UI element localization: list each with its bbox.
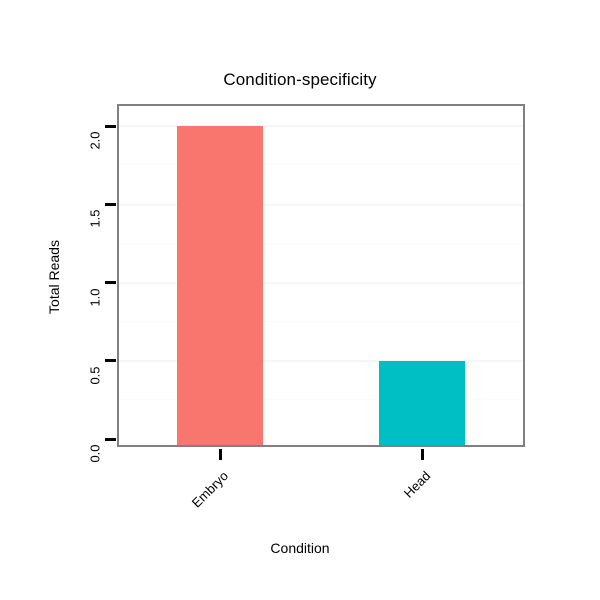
y-tick-mark — [105, 203, 116, 206]
y-tick-mark — [105, 125, 116, 128]
y-tick-label: 0.5 — [88, 360, 103, 390]
x-tick-mark — [421, 449, 424, 460]
chart-title: Condition-specificity — [0, 70, 600, 90]
x-tick-label: Head — [401, 468, 434, 501]
y-tick-mark — [105, 359, 116, 362]
y-tick-label: 0.0 — [88, 439, 103, 469]
bar-chart-figure: Condition-specificity 0.00.51.01.52.0 To… — [0, 0, 600, 600]
x-tick-mark — [219, 449, 222, 460]
y-tick-mark — [105, 438, 116, 441]
y-tick-mark — [105, 281, 116, 284]
plot-panel — [117, 104, 525, 447]
plot-panel-inner — [119, 106, 523, 445]
y-tick-label: 2.0 — [88, 126, 103, 156]
y-tick-label: 1.0 — [88, 282, 103, 312]
bar-head[interactable] — [379, 361, 466, 445]
y-axis-title: Total Reads — [46, 240, 62, 314]
x-tick-label: Embryo — [189, 468, 231, 510]
bar-embryo[interactable] — [177, 126, 264, 445]
y-tick-label: 1.5 — [88, 204, 103, 234]
x-axis-title: Condition — [0, 540, 600, 556]
